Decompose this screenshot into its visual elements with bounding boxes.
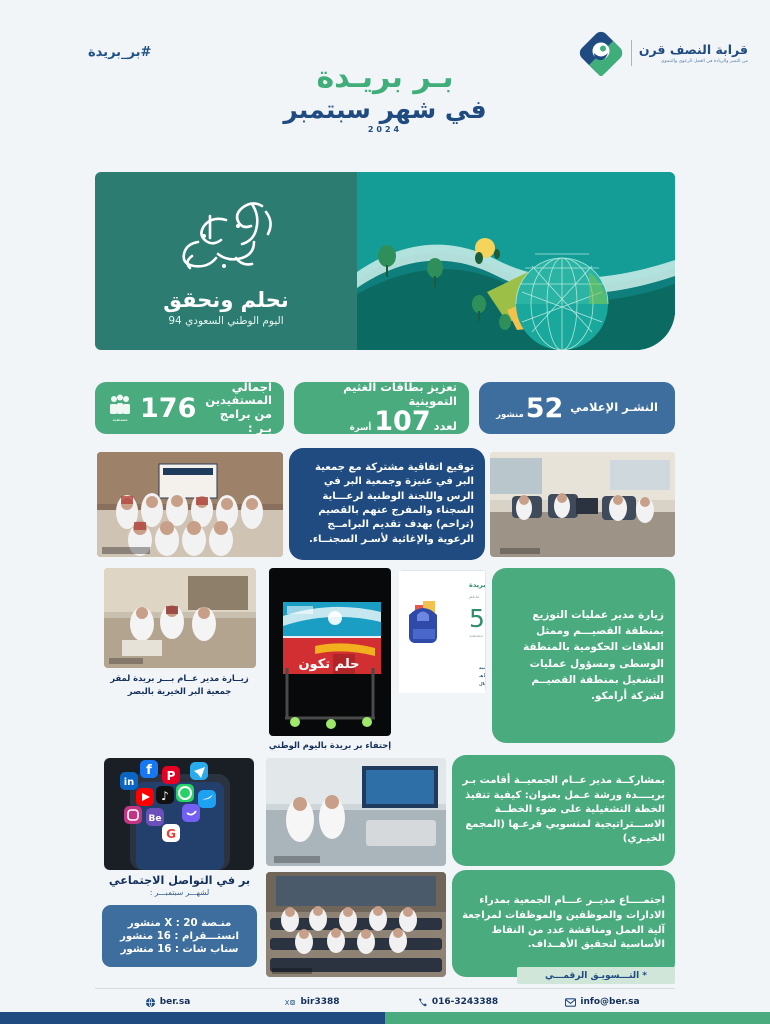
digital-marketing-badge: * التـــسويـق الرقمـــي	[517, 967, 675, 984]
stat-beneficiaries-sublabel: من برامج بـر :	[203, 408, 272, 435]
stat-media-publishing: النشـر الإعلامي 52 منشور	[479, 382, 675, 434]
brand-divider	[631, 40, 632, 66]
bottom-bar	[0, 1012, 770, 1024]
footer-social-text: bir3388	[300, 997, 339, 1007]
title-year: 2024	[0, 125, 770, 134]
stat-media-unit: منشور	[496, 410, 524, 420]
envelope-icon	[565, 997, 576, 1008]
social-stat-snapchat: سناب شات : 16 منشور	[121, 944, 239, 955]
banner-branding: نحلم ونحقق اليوم الوطني السعودي 94	[95, 172, 357, 350]
svg-text:للعــام الدراســي 1446- 1447هـ: للعــام الدراســي 1446- 1447هـ	[478, 673, 485, 678]
social-stats-box: منـصة X : 20 منشور انستـــقرام : 16 منشو…	[102, 905, 257, 967]
svg-text:f: f	[146, 763, 152, 778]
social-caption: بر في التواصل الاجتماعي لشهـــر سبتمبـــ…	[97, 874, 262, 897]
phone-icon	[417, 997, 428, 1008]
title-subtitle: في شهر سبتمبر	[0, 96, 770, 125]
banner-illustration	[357, 172, 675, 350]
bottom-bar-green	[385, 1012, 770, 1024]
national-day-subtitle: اليوم الوطني السعودي 94	[168, 315, 283, 327]
card-workshop-text: بمشاركــة مدير عــام الجمعيــة أقامت بـر…	[452, 755, 675, 866]
photo-workshop	[266, 758, 446, 866]
stat-media-value: 52	[526, 395, 564, 422]
stat-food-baskets: تعزيز بطاقات الغثيم التموينية لعدد 107 أ…	[294, 382, 469, 434]
brand-name: قرابة النصف قرن	[639, 42, 748, 57]
footer-website-text: ber.sa	[160, 997, 191, 1007]
card-agreement-text: توقيع اتفاقية مشتركة مع جمعية البر في عن…	[289, 448, 485, 560]
svg-text:بـر بريدة: بـر بريدة	[469, 581, 485, 589]
footer-social[interactable]: bir3388	[240, 997, 385, 1008]
svg-text:P: P	[167, 769, 176, 783]
globe-icon	[145, 997, 156, 1008]
footer-email-text: info@ber.sa	[580, 997, 639, 1007]
svg-text:G: G	[166, 827, 176, 841]
stat-baskets-value: 107	[374, 408, 430, 435]
national-day-calligraphy-icon	[166, 196, 286, 282]
svg-text:تدعم: تدعم	[469, 594, 480, 600]
card-aramco-visit-text: زيارة مدير عمليات التوزيع بمنطقة القصيــ…	[492, 568, 675, 743]
beneficiaries-people-icon: مستفيد	[107, 394, 133, 422]
footer-website[interactable]: ber.sa	[95, 997, 240, 1008]
social-stat-x: منـصة X : 20 منشور	[128, 918, 232, 929]
stat-beneficiaries-value: 176	[140, 395, 196, 422]
social-subtitle: لشهـــر سبتمبـــر :	[97, 888, 262, 897]
photo-national-day-billboard: حلم تكون	[269, 568, 391, 736]
photo-bir-basr-visit	[104, 568, 256, 668]
bottom-bar-navy	[0, 1012, 385, 1024]
infographic-page: #بر_بريدة بـر بريـدة في شهر سبتمبر 2024 …	[0, 0, 770, 1024]
svg-text:♪: ♪	[161, 789, 169, 803]
hashtag-label: #بر_بريدة	[88, 45, 151, 60]
footer-email[interactable]: info@ber.sa	[530, 997, 675, 1008]
card-school-supplies: بـر بريدة تدعم 503 مستفيد بالزي المدرسي …	[400, 570, 486, 692]
organization-logo-icon	[578, 30, 624, 76]
brand-tagline: من التميز والريادة في العمل الرعوي والتن…	[639, 59, 748, 64]
social-stat-instagram: انستـــقرام : 16 منشور	[120, 931, 239, 942]
national-day-title: نحلم ونحقق	[163, 288, 289, 312]
svg-text:Be: Be	[149, 814, 162, 824]
photo-aramco-visit	[490, 452, 675, 557]
national-day-banner: نحلم ونحقق اليوم الوطني السعودي 94	[95, 172, 675, 350]
photo-social-media-phone: f in P ♪ Be	[104, 758, 254, 870]
stat-baskets-unit: أسرة	[350, 423, 372, 433]
header: #بر_بريدة بـر بريـدة في شهر سبتمبر 2024 …	[0, 0, 770, 165]
x-instagram-icon	[285, 997, 296, 1008]
footer-contacts: info@ber.sa 016-3243388 bir3388 ber.sa	[95, 992, 675, 1012]
stat-baskets-sublabel: لعدد	[434, 420, 457, 434]
svg-text:مستفيد: مستفيد	[469, 634, 484, 639]
card-meeting-text: اجتمــــاع مديــر عـــام الجمعية بمدراء …	[452, 870, 675, 977]
svg-text:مستفيد: مستفيد	[112, 417, 128, 422]
stat-baskets-label: تعزيز بطاقات الغثيم التموينية	[306, 381, 457, 408]
stat-beneficiaries-label: اجمالي المستفيدين	[203, 381, 272, 408]
stats-row: النشـر الإعلامي 52 منشور تعزيز بطاقات ال…	[95, 382, 675, 434]
svg-text:بتكلفة ومقدارها 143355 ريال: بتكلفة ومقدارها 143355 ريال	[479, 681, 485, 686]
photo-management-meeting	[266, 872, 446, 977]
caption-national-day: إحتفاء بر بريدة باليوم الوطني	[262, 740, 398, 750]
photo-agreement-signing	[97, 452, 283, 557]
svg-text:بالزي المدرسي والحقيبة المدرسي: بالزي المدرسي والحقيبة المدرسية	[479, 665, 485, 670]
svg-text:503: 503	[469, 604, 485, 633]
svg-text:in: in	[124, 777, 135, 788]
caption-bir-basr-visit: زيــارة مدير عــام بـــر بريدة لمقر جمعي…	[97, 672, 262, 697]
footer-phone[interactable]: 016-3243388	[385, 997, 530, 1008]
brand-lockup: قرابة النصف قرن من التميز والريادة في ال…	[578, 30, 748, 76]
brand-text: قرابة النصف قرن من التميز والريادة في ال…	[639, 42, 748, 64]
social-title: بر في التواصل الاجتماعي	[97, 874, 262, 887]
footer-phone-text: 016-3243388	[432, 997, 498, 1007]
svg-text:حلم تكون: حلم تكون	[298, 657, 359, 672]
stat-media-label: النشـر الإعلامي	[570, 401, 658, 415]
stat-total-beneficiaries: اجمالي المستفيدين من برامج بـر : 176 مست…	[95, 382, 284, 434]
footer-divider	[95, 988, 675, 989]
